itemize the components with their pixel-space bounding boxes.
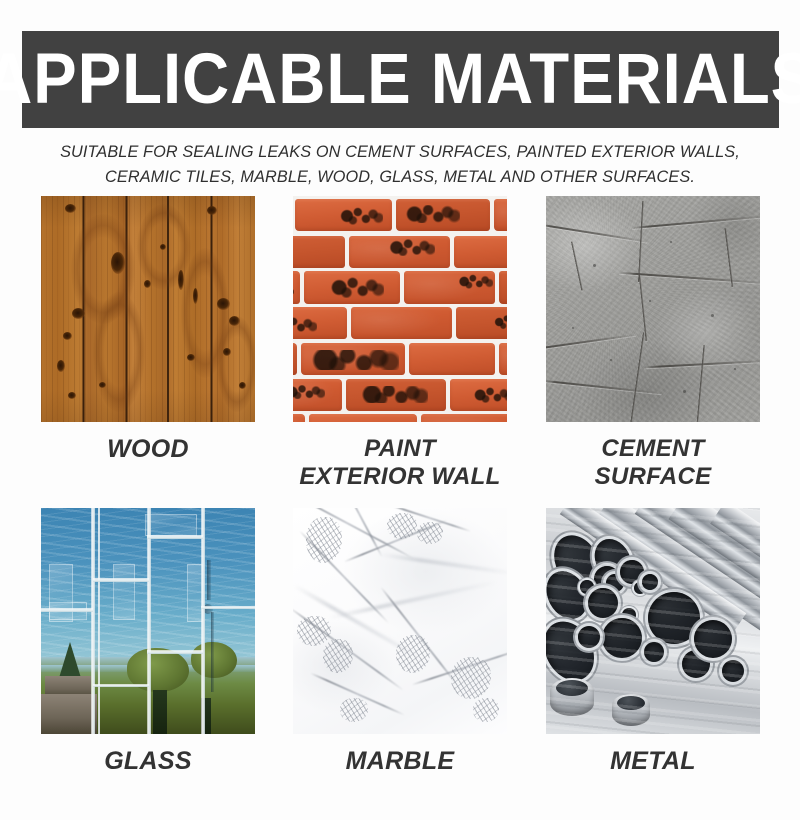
material-card-cement-surface: CEMENT SURFACE xyxy=(546,196,760,492)
material-card-paint-exterior-wall: PAINT EXTERIOR WALL xyxy=(293,196,507,492)
marble-texture-image xyxy=(293,508,507,734)
material-card-glass: GLASS xyxy=(41,508,255,777)
materials-grid: WOOD xyxy=(0,196,800,820)
material-card-metal: METAL xyxy=(546,508,760,777)
material-label-wood: WOOD xyxy=(41,435,255,465)
material-label-glass: GLASS xyxy=(41,747,255,777)
material-card-wood: WOOD xyxy=(41,196,255,465)
material-label-metal: METAL xyxy=(546,747,760,777)
metal-texture-image xyxy=(546,508,760,734)
material-label-cement-surface: CEMENT SURFACE xyxy=(546,435,760,492)
applicable-materials-infographic: APPLICABLE MATERIALS SUITABLE FOR SEALIN… xyxy=(0,0,800,800)
material-label-marble: MARBLE xyxy=(293,747,507,777)
subtitle-description: SUITABLE FOR SEALING LEAKS ON CEMENT SUR… xyxy=(36,140,764,190)
material-card-marble: MARBLE xyxy=(293,508,507,777)
wood-texture-image xyxy=(41,196,255,422)
banner: APPLICABLE MATERIALS xyxy=(22,31,779,128)
materials-row-2: GLASS xyxy=(0,508,800,820)
materials-row-1: WOOD xyxy=(0,196,800,508)
material-label-paint-exterior-wall: PAINT EXTERIOR WALL xyxy=(293,435,507,492)
brick-texture-image xyxy=(293,196,507,422)
page-title: APPLICABLE MATERIALS xyxy=(0,44,800,115)
glass-texture-image xyxy=(41,508,255,734)
cement-texture-image xyxy=(546,196,760,422)
